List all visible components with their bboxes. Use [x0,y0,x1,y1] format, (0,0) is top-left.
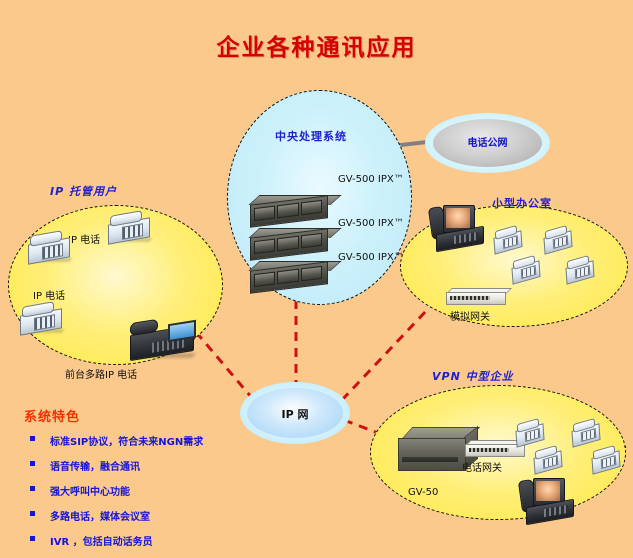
feature-item: 标准SIP协议，符合未来NGN需求 [24,433,239,448]
analog-gateway-device [446,288,508,304]
vpn-phone-4 [592,448,622,472]
front-desk-ip-phone [130,310,202,362]
server-label-2: GV-500 IPX™ [338,218,404,229]
ip-phone-bottom [20,303,66,333]
page-title: 企业各种通讯应用 [0,28,633,62]
feature-item: 多路电话，媒体会议室 [24,508,239,523]
office-phone-1 [494,228,524,252]
front-desk-phone-label: 前台多路IP 电话 [65,366,137,381]
server-rack-2 [250,228,338,254]
server-rack-1 [250,195,338,221]
office-phone-2 [544,228,574,252]
server-label-1: GV-500 IPX™ [338,174,404,185]
zone-ip-hosted-caption: IP 托管用户 [50,183,117,199]
server-label-3: GV-500 IPX™ [338,252,404,263]
diagram-canvas: 中央处理系统 GV-500 IPX™ GV-500 IPX™ GV-500 IP… [0,0,633,541]
feature-item: 强大呼叫中心功能 [24,483,239,498]
vpn-phone-3 [534,448,564,472]
vpn-phone-1 [516,421,546,445]
ip-phone-top [108,212,154,242]
link-ipnet-to-small-office [342,292,444,400]
office-phone-3 [512,258,542,282]
pstn-label: 电话公网 [433,134,542,149]
video-phone-vpn [520,478,574,526]
ip-phone-label-bottom: IP 电话 [33,287,65,302]
ip-network-label: IP 网 [247,406,343,422]
link-frontdesk-to-ipnet [196,332,252,398]
vpn-phone-2 [572,421,602,445]
ip-phone-middle [28,232,74,262]
gv50-label: GV-50 [408,487,438,498]
analog-gateway-label: 模拟网关 [450,308,490,323]
telephone-gateway-label: 电话网关 [462,459,502,474]
features-list: 标准SIP协议，符合未来NGN需求 语音传输，融合通讯 强大呼叫中心功能 多路电… [24,433,239,548]
zone-small-office-caption: 小型办公室 [492,195,552,211]
feature-item: 语音传输，融合通讯 [24,458,239,473]
office-phone-4 [566,258,596,282]
video-phone-small-office [430,205,484,253]
features-heading: 系统特色 [24,406,239,425]
link-iphosted-to-ipnet [206,345,248,400]
zone-central-caption: 中央处理系统 [275,128,347,144]
server-rack-3 [250,261,338,287]
zone-vpn-caption: VPN 中型企业 [432,368,514,384]
system-features-box: 系统特色 标准SIP协议，符合未来NGN需求 语音传输，融合通讯 强大呼叫中心功… [24,406,239,558]
